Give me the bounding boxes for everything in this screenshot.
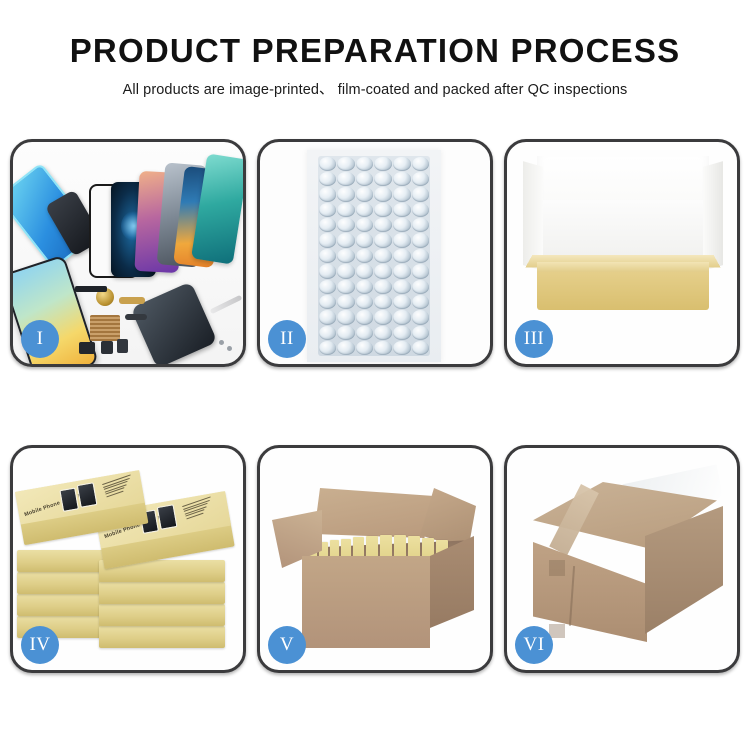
bubble-cell <box>412 310 430 324</box>
step-panel-ii[interactable]: II <box>257 139 493 367</box>
bubble-cell <box>319 295 337 309</box>
box-spec-lines <box>102 474 135 497</box>
small-component-icon <box>79 342 95 354</box>
bubble-cell <box>356 341 374 355</box>
gold-flex-cable-icon <box>119 297 145 304</box>
white-cable-icon <box>210 295 243 314</box>
box-spec-lines <box>182 496 215 519</box>
bubble-cell <box>356 172 374 186</box>
box-phone-graphic <box>59 487 79 511</box>
carton-front-face-icon <box>302 556 430 648</box>
step-badge-iii: III <box>515 320 553 358</box>
step-panel-i[interactable]: I <box>10 139 246 367</box>
page-title: PRODUCT PREPARATION PROCESS <box>0 34 750 69</box>
bubble-cell <box>356 264 374 278</box>
bubble-cell <box>337 249 355 263</box>
bubble-cell <box>374 341 392 355</box>
kraft-tray-icon <box>537 262 709 310</box>
bubble-cell <box>319 187 337 201</box>
phone-chassis-icon <box>130 281 217 364</box>
bubble-cell <box>393 157 411 171</box>
bubble-cell <box>393 203 411 217</box>
bubble-cell <box>337 233 355 247</box>
bubble-cell <box>412 264 430 278</box>
bubble-cell <box>412 203 430 217</box>
bubble-cell <box>319 326 337 340</box>
bubble-cell <box>412 218 430 232</box>
step-panel-iv[interactable]: Mobile Phone Spare PartsMobile Phone Spa… <box>10 445 246 673</box>
bubble-cell <box>393 280 411 294</box>
bubble-cell <box>337 157 355 171</box>
bubble-cell <box>393 233 411 247</box>
stacked-box <box>99 604 225 626</box>
bubble-cell <box>356 326 374 340</box>
bubble-cell <box>356 157 374 171</box>
bubble-cell <box>374 187 392 201</box>
bubble-cell <box>374 310 392 324</box>
bubble-cell <box>337 264 355 278</box>
bubble-cell <box>337 280 355 294</box>
bubble-wrap-icon <box>318 156 430 356</box>
bubble-cell <box>319 264 337 278</box>
bubble-cell <box>337 172 355 186</box>
step-panel-v[interactable]: V <box>257 445 493 673</box>
connector-grid-part-icon <box>90 315 120 341</box>
bubble-cell <box>356 233 374 247</box>
screw-icon <box>227 346 232 351</box>
bubble-cell <box>374 295 392 309</box>
small-component-icon <box>101 341 113 354</box>
bubble-cell <box>412 233 430 247</box>
bubble-cell <box>337 310 355 324</box>
bubble-cell <box>393 187 411 201</box>
step-badge-iv: IV <box>21 626 59 664</box>
bubble-cell <box>319 310 337 324</box>
bubble-cell <box>374 203 392 217</box>
bubble-cell <box>337 203 355 217</box>
bubble-cell <box>356 187 374 201</box>
stacked-box <box>99 582 225 604</box>
box-lid-face: Mobile Phone Spare Parts <box>15 470 145 525</box>
bubble-cell <box>374 157 392 171</box>
bubble-cell <box>374 249 392 263</box>
process-step-grid: I II III Mobile Phone Spare PartsMobile … <box>10 139 740 673</box>
bubble-cell <box>412 280 430 294</box>
bubble-cell <box>393 172 411 186</box>
bubble-cell <box>412 157 430 171</box>
bubble-cell <box>374 218 392 232</box>
bubble-cell <box>412 249 430 263</box>
box-phone-graphic <box>157 504 178 530</box>
bubble-cell <box>393 264 411 278</box>
bubble-cell <box>374 233 392 247</box>
bubble-cell <box>374 264 392 278</box>
bubble-cell <box>356 249 374 263</box>
bubble-cell <box>319 157 337 171</box>
bubble-cell <box>374 172 392 186</box>
bubble-cell <box>319 218 337 232</box>
bubble-cell <box>393 310 411 324</box>
bubble-cell <box>319 203 337 217</box>
bubble-cell <box>337 187 355 201</box>
flex-strip-part-icon <box>75 286 107 292</box>
bubble-cell <box>356 218 374 232</box>
bubble-cell <box>319 172 337 186</box>
step-badge-ii: II <box>268 320 306 358</box>
screw-icon <box>219 340 224 345</box>
flex-cable-icon <box>125 314 147 320</box>
bubble-cell <box>337 218 355 232</box>
bubble-cell <box>319 249 337 263</box>
bubble-cell <box>393 295 411 309</box>
step-badge-vi: VI <box>515 626 553 664</box>
carton-tab-icon <box>549 624 565 638</box>
bubble-cell <box>319 280 337 294</box>
bubble-cell <box>319 341 337 355</box>
step-panel-vi[interactable]: VI <box>504 445 740 673</box>
bubble-cell <box>393 218 411 232</box>
bubble-cell <box>412 172 430 186</box>
page-subtitle: All products are image-printed、 film-coa… <box>0 78 750 99</box>
box-phone-graphic <box>77 482 98 508</box>
bubble-cell <box>319 233 337 247</box>
bubble-cell <box>356 203 374 217</box>
bubble-cell <box>374 326 392 340</box>
step-badge-v: V <box>268 626 306 664</box>
bubble-cell <box>393 326 411 340</box>
bubble-cell <box>337 295 355 309</box>
bubble-cell <box>374 280 392 294</box>
bubble-cell <box>337 326 355 340</box>
page-header: PRODUCT PREPARATION PROCESS All products… <box>0 0 750 99</box>
step-panel-iii[interactable]: III <box>504 139 740 367</box>
bubble-cell <box>356 295 374 309</box>
bubble-cell <box>393 341 411 355</box>
bubble-cell <box>356 280 374 294</box>
step-badge-i: I <box>21 320 59 358</box>
stacked-box <box>99 626 225 648</box>
bubble-cell <box>412 187 430 201</box>
bubble-cell <box>337 341 355 355</box>
bubble-cell <box>356 310 374 324</box>
bubble-cell <box>393 249 411 263</box>
carton-tab-icon <box>549 560 565 576</box>
bubble-cell <box>412 295 430 309</box>
bubble-cell <box>412 341 430 355</box>
infographic-page: PRODUCT PREPARATION PROCESS All products… <box>0 0 750 750</box>
small-component-icon <box>117 339 128 353</box>
carton-back-flap-icon <box>314 488 434 538</box>
bubble-cell <box>412 326 430 340</box>
